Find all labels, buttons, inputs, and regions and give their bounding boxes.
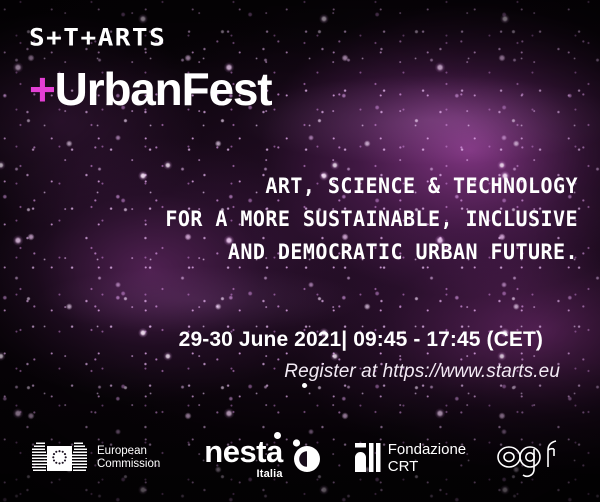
ogr-icon bbox=[496, 437, 566, 479]
event-title: +UrbanFest bbox=[29, 66, 271, 112]
title-plus-symbol: + bbox=[29, 63, 55, 115]
logo-european-commission: European Commission bbox=[32, 438, 160, 478]
nesta-wordmark: nesta Italia bbox=[204, 437, 282, 480]
event-datetime: 29-30 June 2021| 09:45 - 17:45 (CET) bbox=[179, 328, 543, 352]
logo-nesta: nesta Italia bbox=[204, 437, 320, 480]
european-commission-label: European Commission bbox=[97, 445, 160, 472]
brand-starts: S+T+ARTS bbox=[29, 26, 271, 50]
logo-fondazione-crt: Fondazione CRT bbox=[355, 441, 466, 475]
crt-line-1: Fondazione bbox=[388, 441, 466, 458]
nesta-label: nesta bbox=[204, 437, 282, 467]
title-urbanfest: UrbanFest bbox=[55, 63, 272, 115]
european-commission-icon bbox=[32, 438, 90, 478]
poster-canvas: S+T+ARTS +UrbanFest ART, SCIENCE & TECHN… bbox=[0, 0, 600, 502]
tagline-line-1: ART, SCIENCE & TECHNOLOGY bbox=[40, 170, 578, 203]
nesta-circle-icon bbox=[287, 433, 321, 475]
fondazione-crt-label: Fondazione CRT bbox=[388, 441, 466, 475]
fondazione-crt-icon bbox=[355, 443, 381, 473]
tagline-line-2: FOR A MORE SUSTAINABLE, INCLUSIVE bbox=[40, 203, 578, 236]
tagline-block: ART, SCIENCE & TECHNOLOGY FOR A MORE SUS… bbox=[40, 170, 578, 269]
crt-line-2: CRT bbox=[388, 458, 466, 475]
ec-line-2: Commission bbox=[97, 458, 160, 472]
register-url[interactable]: Register at https://www.starts.eu bbox=[284, 361, 560, 383]
nesta-sub-label: Italia bbox=[204, 468, 282, 480]
logo-bar: European Commission nesta Italia bbox=[0, 422, 600, 494]
ec-line-1: European bbox=[97, 445, 160, 459]
tagline-line-3: AND DEMOCRATIC URBAN FUTURE. bbox=[40, 236, 578, 269]
title-block: S+T+ARTS +UrbanFest bbox=[29, 26, 271, 112]
logo-ogr bbox=[496, 437, 566, 479]
